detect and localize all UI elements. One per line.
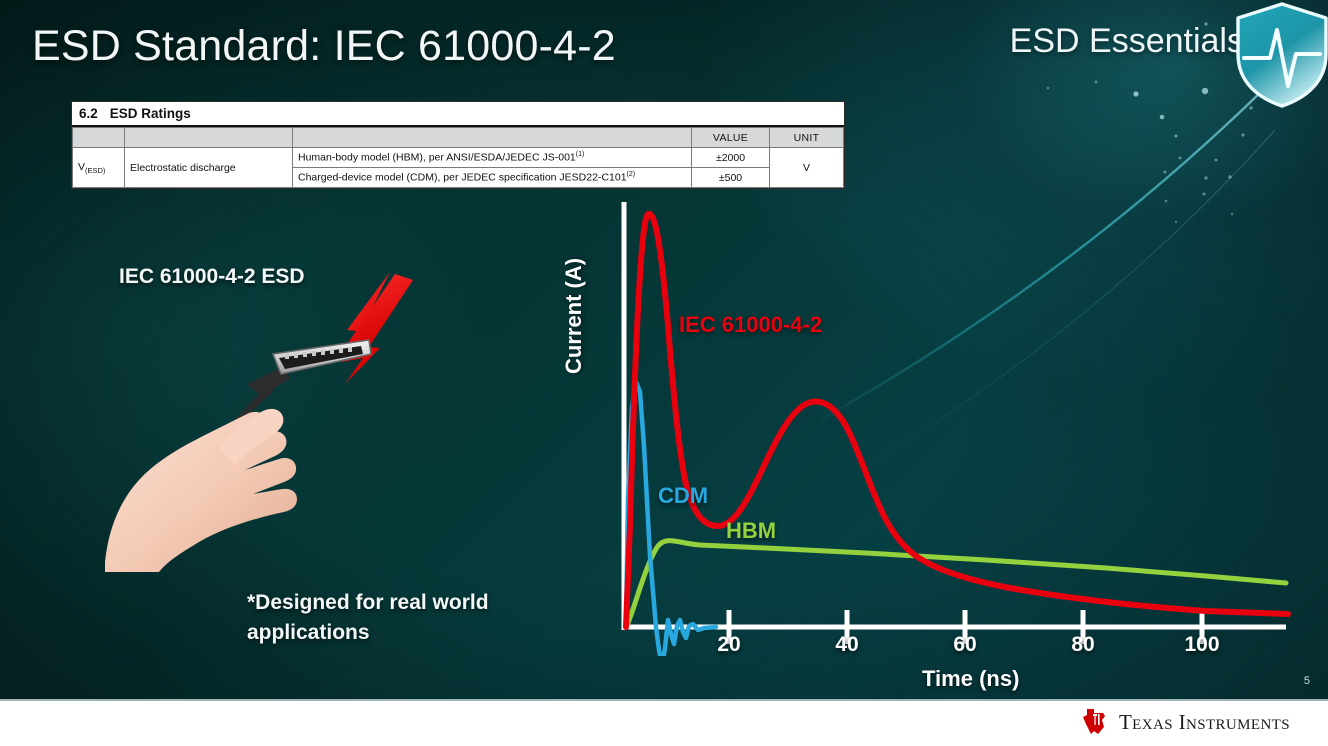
esd-ratings-table: 6.2ESD Ratings VALUE UNIT V(ESD) Electro…: [71, 101, 845, 189]
x-tick-label-60: 60: [953, 633, 976, 657]
series-line-iec: [626, 214, 1288, 627]
symbol-base: V: [78, 161, 85, 173]
header-blank-parameter: [125, 128, 293, 148]
cell-symbol: V(ESD): [73, 148, 125, 188]
cell-condition-hbm: Human-body model (HBM), per ANSI/ESDA/JE…: [293, 148, 692, 168]
cell-parameter: Electrostatic discharge: [125, 148, 293, 188]
symbol-subscript: (ESD): [85, 166, 105, 175]
section-number: 6.2: [79, 106, 98, 121]
cell-condition-cdm: Charged-device model (CDM), per JEDEC sp…: [293, 168, 692, 188]
x-axis-label: Time (ns): [922, 666, 1019, 692]
brand-label: ESD Essentials: [1010, 22, 1244, 61]
column-header-unit: UNIT: [770, 128, 844, 148]
y-axis-label: Current (A): [561, 258, 587, 374]
cell-value-hbm: ±2000: [692, 148, 770, 168]
header-blank-symbol: [73, 128, 125, 148]
ti-texas-mark-icon: [1082, 707, 1110, 737]
esd-waveform-chart: Current (A) Time (ns) IEC 61000-4-2 CDM: [566, 196, 1306, 696]
series-label-iec: IEC 61000-4-2: [679, 312, 822, 338]
cell-value-cdm: ±500: [692, 168, 770, 188]
table-header-row: VALUE UNIT: [73, 128, 844, 148]
condition-text-cdm: Charged-device model (CDM), per JEDEC sp…: [298, 172, 627, 184]
texas-instruments-logo: Texas Instruments: [1082, 707, 1290, 737]
slide-root: ESD Standard: IEC 61000-4-2 ESD Essentia…: [0, 0, 1328, 746]
footnote-marker-1: (1): [576, 151, 585, 158]
table-row: V(ESD) Electrostatic discharge Human-bod…: [73, 148, 844, 168]
page-number: 5: [1304, 675, 1310, 687]
real-world-note: *Designed for real world applications: [247, 588, 567, 649]
table-section-header: 6.2ESD Ratings: [72, 102, 844, 127]
column-header-value: VALUE: [692, 128, 770, 148]
chart-plot-area: [566, 196, 1306, 656]
series-label-hbm: HBM: [726, 518, 776, 544]
x-tick-label-100: 100: [1184, 633, 1219, 657]
condition-text-hbm: Human-body model (HBM), per ANSI/ESDA/JE…: [298, 152, 576, 164]
section-title: ESD Ratings: [110, 106, 191, 121]
x-tick-label-20: 20: [717, 633, 740, 657]
footnote-marker-2: (2): [627, 171, 636, 178]
x-tick-label-80: 80: [1071, 633, 1094, 657]
page-title: ESD Standard: IEC 61000-4-2: [32, 22, 616, 71]
hand-holding-hdmi-connector: [95, 262, 435, 572]
ti-wordmark: Texas Instruments: [1119, 710, 1290, 735]
shield-pulse-icon: [1230, 0, 1328, 112]
series-label-cdm: CDM: [658, 483, 708, 509]
series-line-hbm: [626, 541, 1286, 627]
cell-unit: V: [770, 148, 844, 188]
x-tick-label-40: 40: [835, 633, 858, 657]
header-blank-condition: [293, 128, 692, 148]
